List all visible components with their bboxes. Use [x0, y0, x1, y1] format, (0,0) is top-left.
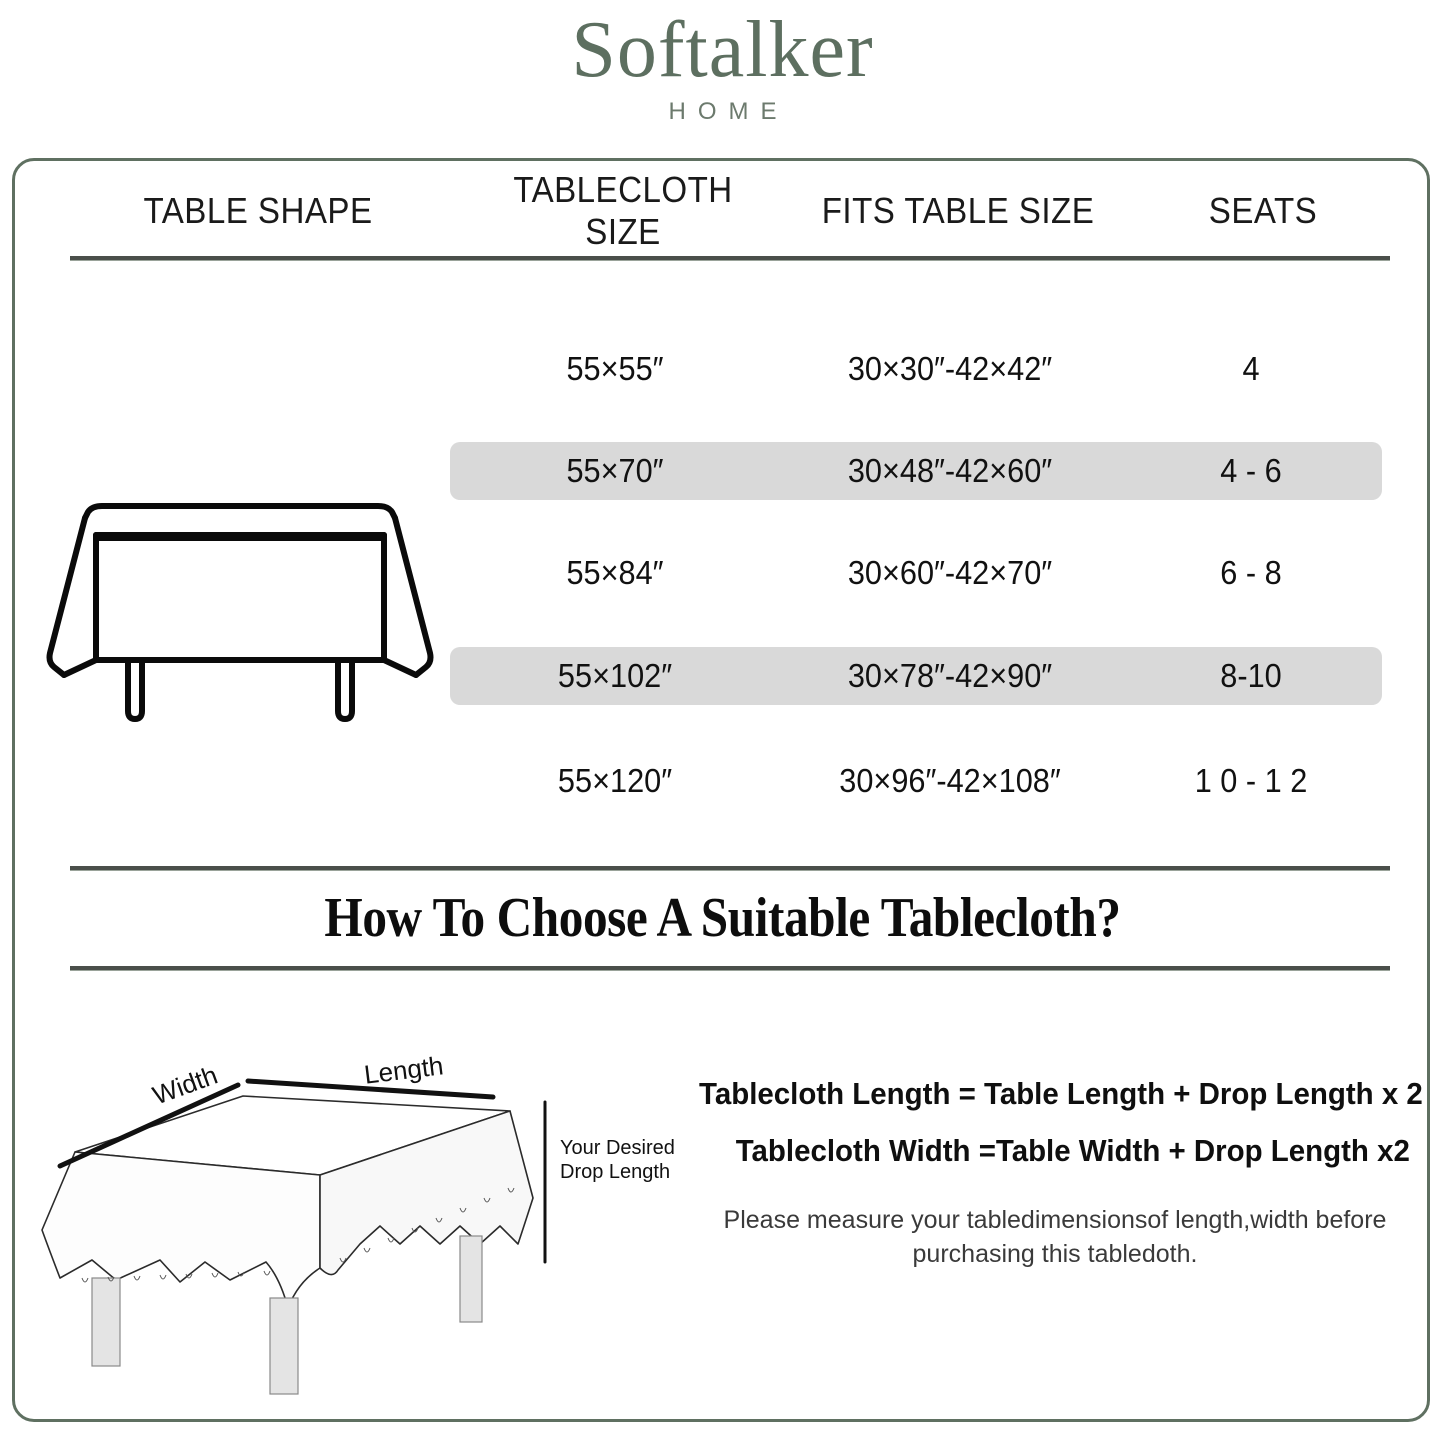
cell-fits-table-size: 30×48″-42×60″	[792, 452, 1108, 490]
cell-fits-table-size: 30×78″-42×90″	[792, 657, 1108, 695]
header-divider	[70, 256, 1390, 261]
cell-tablecloth-size: 55×70″	[462, 452, 769, 490]
cell-seats: 1 0 - 1 2	[1129, 762, 1373, 800]
table-row: 55×55″30×30″-42×42″4	[450, 340, 1382, 398]
brand-subtitle: HOME	[0, 98, 1445, 126]
guide-top-divider	[70, 866, 1390, 871]
purchase-note: Please measure your tabledimensionsof le…	[700, 1203, 1410, 1271]
cell-fits-table-size: 30×30″-42×42″	[792, 350, 1108, 388]
formula-tablecloth-length: Tablecloth Length = Table Length + Drop …	[699, 1076, 1423, 1112]
column-header-seats: SEATS	[1139, 190, 1387, 232]
cell-seats: 6 - 8	[1129, 554, 1373, 592]
table-row: 55×84″30×60″-42×70″6 - 8	[450, 544, 1382, 602]
cell-tablecloth-size: 55×102″	[462, 657, 769, 695]
table-row: 55×70″30×48″-42×60″4 - 6	[450, 442, 1382, 500]
cell-fits-table-size: 30×60″-42×70″	[792, 554, 1108, 592]
diagram-label-drop-length: Your Desired Drop Length	[560, 1136, 675, 1184]
guide-title: How To Choose A Suitable Tablecloth?	[87, 886, 1359, 950]
guide-bottom-divider	[70, 966, 1390, 971]
cell-tablecloth-size: 55×120″	[462, 762, 769, 800]
cell-seats: 8-10	[1129, 657, 1373, 695]
cell-seats: 4	[1129, 350, 1373, 388]
brand-wordmark: Softalker	[0, 8, 1445, 92]
cell-fits-table-size: 30×96″-42×108″	[792, 762, 1108, 800]
brand-logo: Softalker HOME	[0, 8, 1445, 126]
table-row: 55×102″30×78″-42×90″8-10	[450, 647, 1382, 705]
cell-tablecloth-size: 55×55″	[462, 350, 769, 388]
column-header-tablecloth-size: TABLECLOTH SIZE	[471, 169, 775, 253]
tablecloth-drop-diagram	[20, 1030, 700, 1410]
column-header-fits-table-size: FITS TABLE SIZE	[802, 190, 1115, 232]
cell-seats: 4 - 6	[1129, 452, 1373, 490]
size-table-header: TABLE SHAPE TABLECLOTH SIZE FITS TABLE S…	[58, 182, 1398, 240]
formula-tablecloth-width: Tablecloth Width =Table Width + Drop Len…	[736, 1133, 1410, 1169]
column-header-table-shape: TABLE SHAPE	[74, 190, 442, 232]
cell-tablecloth-size: 55×84″	[462, 554, 769, 592]
table-row: 55×120″30×96″-42×108″1 0 - 1 2	[450, 752, 1382, 810]
rectangle-table-shape-icon	[40, 495, 435, 730]
